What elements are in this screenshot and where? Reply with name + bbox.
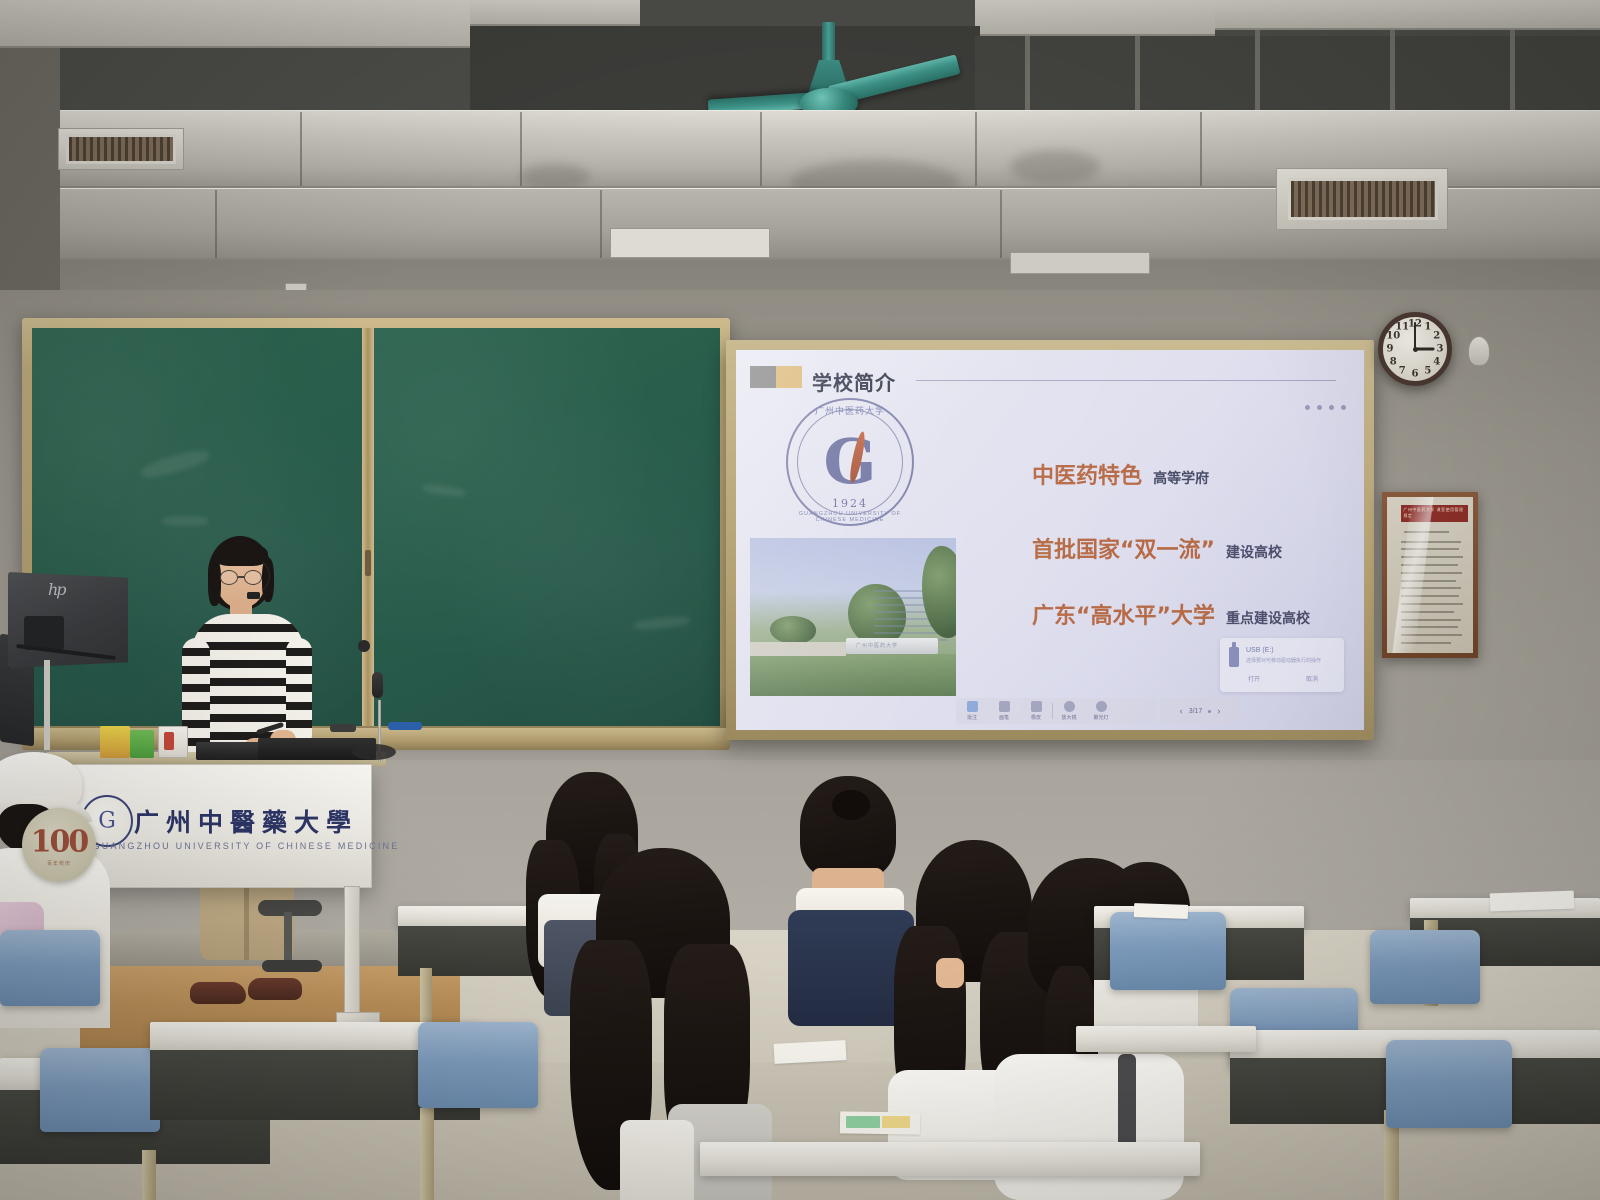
duct-seam-3 [760,112,762,186]
paper-sheet-1 [774,1040,847,1064]
clock-minute-hand [1414,322,1416,349]
decor-dot [1317,405,1322,410]
slide-bullet-2: 首批国家“双一流” 建设高校 [1032,532,1282,564]
chair-right-3[interactable] [1386,1040,1512,1128]
toolbar-label-spotlight: 聚光灯 [1093,714,1108,721]
teacher-chair-post [284,912,292,964]
monitor-power-cord [44,660,50,750]
classroom-photo-scene: 学校简介 广州中医药大学 G 1924 GUANGZHOU UNIVERSITY… [0,0,1600,1200]
slide-bullet-3: 广东“高水平”大学 重点建设高校 [1032,598,1310,630]
chair-left-1[interactable] [0,930,100,1006]
student-e-shirt [994,1054,1184,1200]
usb-toast-subtitle: 选择要对可移动驱动器执行的操作 [1246,657,1321,664]
chair-left-2[interactable] [40,1048,160,1132]
duct-stain-3 [520,164,590,190]
campus-photo: 广州中医药大学 [750,538,956,696]
student-c-hair-clip [832,790,870,820]
title-tag-gray [750,366,776,388]
ceiling-panel-2 [470,0,640,26]
student-b-shirt [620,1120,694,1200]
cable-coil [352,744,396,760]
chalkboard-slide-handle[interactable] [365,550,371,576]
campus-hedge [750,654,956,696]
desk-box-label [164,732,174,750]
toolbar-label-pen: 画笔 [999,714,1009,721]
lectern-leg-right [344,886,360,1016]
ceiling-rib-4 [1390,30,1395,120]
clock-numeral-8: 8 [1390,356,1397,367]
clock-hour-hand [1415,348,1434,351]
duct-seam-5 [1200,112,1202,186]
paper-sheet-3 [1490,891,1575,912]
chevron-right-icon[interactable]: › [1217,706,1220,716]
desk-microphone[interactable] [372,672,383,698]
centennial-subtext: 百年校庆 [22,860,96,867]
usb-toast-open-button[interactable]: 打开 [1232,674,1276,683]
clock-numeral-3: 3 [1436,344,1443,355]
seal-arc-top-text: 广州中医药大学 [786,404,914,417]
duct-lower-seam-1 [215,190,217,258]
marker-blue[interactable] [388,722,422,730]
ceiling-rib-1 [1025,36,1030,120]
ceiling-rib-5 [1510,30,1515,120]
chalkboard-panel-right [374,328,720,726]
slide-decor-dots [1305,405,1346,410]
slide-bullet-1: 中医药特色 高等学府 [1032,458,1209,490]
desk-center-mid [1076,1026,1256,1052]
chalk-smudge-2 [162,516,208,526]
presenter-shoe-left [190,982,246,1004]
microphone-icon [247,592,260,599]
duct-stain-2 [1010,150,1100,184]
clock-numeral-11: 11 [1395,322,1409,333]
air-vent-icon-right [1288,178,1438,220]
seal-arc-bottom-text: GUANGZHOU UNIVERSITY OF CHINESE MEDICINE [786,511,914,523]
pager-dot-icon [1208,710,1211,713]
ceiling-recess-right [975,36,1600,120]
decor-dot [1329,405,1334,410]
usb-toast-cancel-button[interactable]: 取消 [1290,674,1334,683]
bullet-2-rest: 建设高校 [1226,545,1282,561]
slide-title: 学校简介 [812,367,896,396]
headset-band [214,554,270,598]
air-vent-icon-left [66,134,176,164]
teacher-chair-legs [262,960,322,972]
notice-board-glare [1393,497,1435,653]
desk-center-front [700,1142,1200,1176]
projector-mount [610,228,770,258]
duct-lower-seam-2 [600,190,602,258]
duct-lower-seam-3 [1000,190,1002,258]
bullet-2-emphasis: 首批国家“双一流” [1032,538,1215,563]
clock-center-pin [1413,347,1418,352]
campus-path [750,642,846,656]
toolbar-item-spotlight[interactable]: 聚光灯 [1085,701,1117,721]
student-d-hand [936,958,964,988]
ceiling-rib-2 [1135,36,1140,120]
clock-numeral-5: 5 [1424,365,1431,376]
duct-seam-4 [975,112,977,186]
chair-far-right-1[interactable] [1370,930,1480,1004]
bullet-3-rest: 重点建设高校 [1226,611,1310,627]
decor-dot [1341,405,1346,410]
toolbar-item-pen[interactable]: 画笔 [988,701,1020,721]
light-fixture [1010,252,1150,274]
ceiling-panel-3 [975,0,1215,36]
toolbar-item-zoom[interactable]: 放大镜 [1053,701,1085,721]
presentation-slide[interactable]: 学校简介 广州中医药大学 G 1924 GUANGZHOU UNIVERSITY… [736,350,1364,730]
notice-board-frame: 广州中医药大学 课室使用管理规定 [1382,492,1478,658]
wall-clock: 12 1 2 3 4 5 6 7 8 9 10 11 [1378,312,1452,386]
title-tag-gold [776,366,802,388]
bullet-3-emphasis: 广东“高水平”大学 [1032,604,1215,629]
clock-numeral-7: 7 [1399,365,1406,376]
ceiling-panel-1 [0,0,470,48]
centennial-fan-badge: 100 百年校庆 [22,808,96,882]
clock-numeral-2: 2 [1433,331,1440,342]
toolbar-item-pointer[interactable]: 批注 [956,701,988,721]
usb-toast-title: USB (E:) [1246,647,1274,654]
bullet-1-emphasis: 中医药特色 [1032,464,1142,489]
seal-monogram: G [824,431,877,493]
slide-pager[interactable]: ‹ 3/17 › [1160,698,1240,724]
eraser-icon [1031,701,1042,712]
student-front-left [0,752,140,1052]
centennial-number: 100 [31,825,88,860]
desk-leg-1 [142,1150,156,1200]
chair-right-1[interactable] [1110,912,1226,990]
motion-sensor [1468,336,1490,366]
clock-numeral-6: 6 [1412,368,1419,379]
desk-leg-3 [420,1108,434,1200]
duct-seam-1 [300,112,302,186]
usb-drive-icon [1229,647,1239,667]
toolbar-label-zoom: 放大镜 [1061,714,1076,721]
clock-numeral-4: 4 [1433,356,1440,367]
seal-year: 1924 [786,497,914,510]
clock-numeral-9: 9 [1387,344,1394,355]
decor-dot [1305,405,1310,410]
spotlight-icon [1096,701,1107,712]
ceiling-panel-4 [1215,0,1600,30]
presenter-toolbar[interactable]: 批注 画笔 橡皮 放大镜 聚光灯 [956,698,1156,724]
pointer-icon [967,701,978,712]
campus-tree-far [770,616,816,644]
toolbar-item-eraser[interactable]: 橡皮 [1020,701,1052,721]
presenter-shoe-right [248,978,302,1000]
wall-speaker [358,640,370,652]
paper-color-tab-green [846,1116,880,1128]
paper-sheet-2 [1134,903,1188,919]
zoom-icon [1064,701,1075,712]
clock-numeral-1: 1 [1424,322,1431,333]
paper-color-tab-yellow [882,1116,910,1128]
marker-black[interactable] [330,724,356,732]
campus-gate-caption: 广州中医药大学 [856,642,898,649]
slide-title-rule [916,380,1336,381]
university-seal: 广州中医药大学 G 1924 GUANGZHOU UNIVERSITY OF C… [786,398,914,526]
notice-board: 广州中医药大学 课室使用管理规定 [1387,497,1473,653]
toolbar-label-eraser: 橡皮 [1031,714,1041,721]
ceiling-rib-3 [1255,30,1260,120]
monitor-brand-logo: hp [48,580,65,599]
usb-notification-toast[interactable]: USB (E:) 选择要对可移动驱动器执行的操作 打开 取消 [1220,638,1344,692]
slide-page-label: 3/17 [1189,708,1203,715]
chalkboard-divider[interactable] [362,328,374,726]
chevron-left-icon[interactable]: ‹ [1180,706,1183,716]
toolbar-label-pointer: 批注 [967,714,977,721]
bullet-1-rest: 高等学府 [1153,471,1209,487]
pen-icon [999,701,1010,712]
